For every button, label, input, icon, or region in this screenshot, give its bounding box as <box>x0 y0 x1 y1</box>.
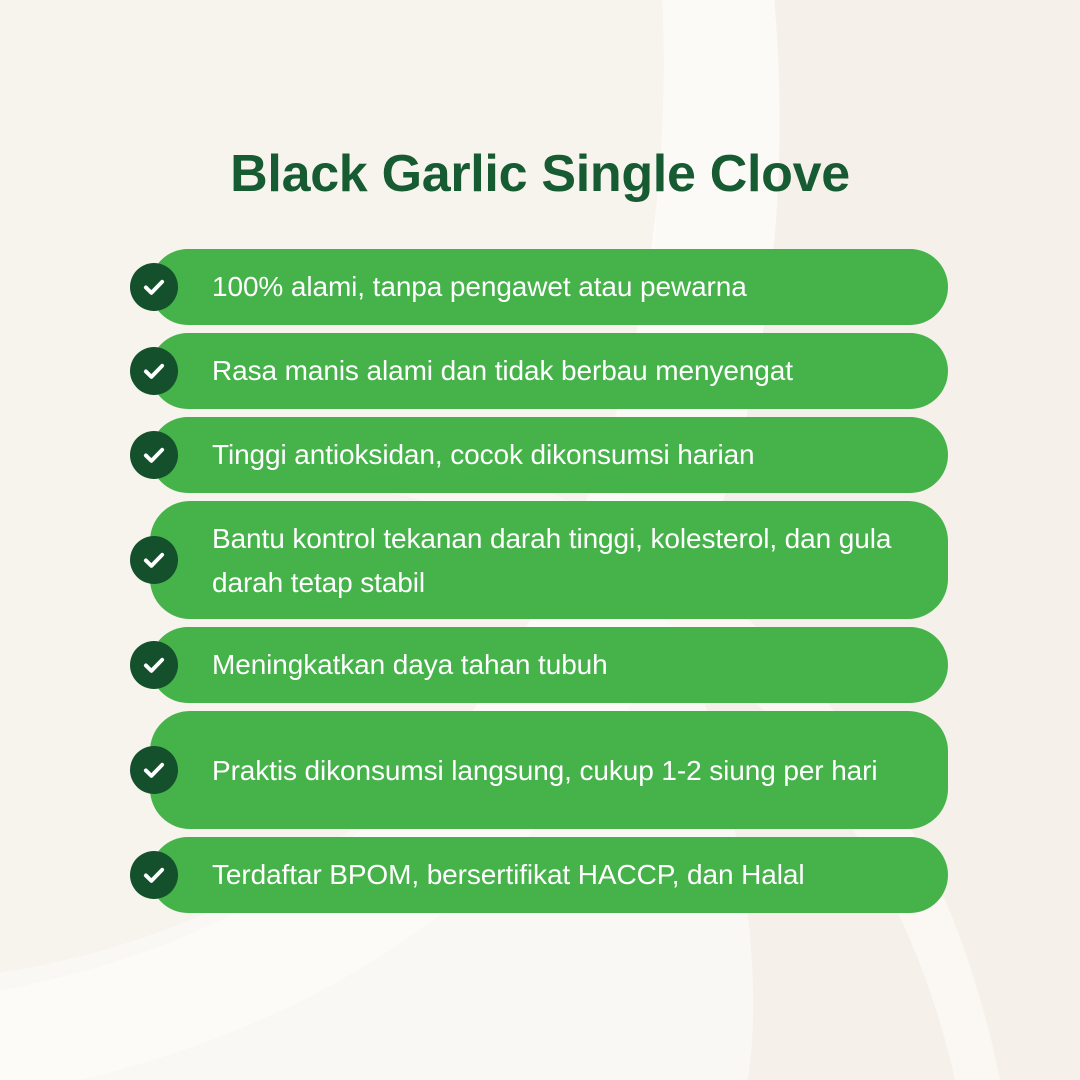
benefit-text: Tinggi antioksidan, cocok dikonsumsi har… <box>150 433 789 477</box>
benefit-pill: Bantu kontrol tekanan darah tinggi, kole… <box>150 501 948 619</box>
check-icon <box>130 851 178 899</box>
benefit-text: Rasa manis alami dan tidak berbau menyen… <box>150 349 827 393</box>
list-item: Rasa manis alami dan tidak berbau menyen… <box>0 333 1080 409</box>
benefit-text: Bantu kontrol tekanan darah tinggi, kole… <box>150 515 948 605</box>
benefit-text: 100% alami, tanpa pengawet atau pewarna <box>150 265 781 309</box>
benefit-pill: Terdaftar BPOM, bersertifikat HACCP, dan… <box>150 837 948 913</box>
list-item: Tinggi antioksidan, cocok dikonsumsi har… <box>0 417 1080 493</box>
benefit-pill: Rasa manis alami dan tidak berbau menyen… <box>150 333 948 409</box>
benefit-text: Terdaftar BPOM, bersertifikat HACCP, dan… <box>150 853 838 897</box>
benefit-pill: Tinggi antioksidan, cocok dikonsumsi har… <box>150 417 948 493</box>
page-title: Black Garlic Single Clove <box>0 143 1080 205</box>
list-item: Bantu kontrol tekanan darah tinggi, kole… <box>0 501 1080 619</box>
list-item: Terdaftar BPOM, bersertifikat HACCP, dan… <box>0 837 1080 913</box>
benefits-list: 100% alami, tanpa pengawet atau pewarna … <box>0 249 1080 921</box>
check-icon <box>130 347 178 395</box>
list-item: Praktis dikonsumsi langsung, cukup 1-2 s… <box>0 711 1080 829</box>
product-benefits-poster: Black Garlic Single Clove 100% alami, ta… <box>0 0 1080 1080</box>
benefit-text: Meningkatkan daya tahan tubuh <box>150 643 642 687</box>
benefit-pill: Meningkatkan daya tahan tubuh <box>150 627 948 703</box>
list-item: 100% alami, tanpa pengawet atau pewarna <box>0 249 1080 325</box>
check-icon <box>130 263 178 311</box>
benefit-pill: 100% alami, tanpa pengawet atau pewarna <box>150 249 948 325</box>
benefit-pill: Praktis dikonsumsi langsung, cukup 1-2 s… <box>150 711 948 829</box>
check-icon <box>130 641 178 689</box>
check-icon <box>130 431 178 479</box>
check-icon <box>130 746 178 794</box>
benefit-text: Praktis dikonsumsi langsung, cukup 1-2 s… <box>150 747 912 793</box>
list-item: Meningkatkan daya tahan tubuh <box>0 627 1080 703</box>
check-icon <box>130 536 178 584</box>
